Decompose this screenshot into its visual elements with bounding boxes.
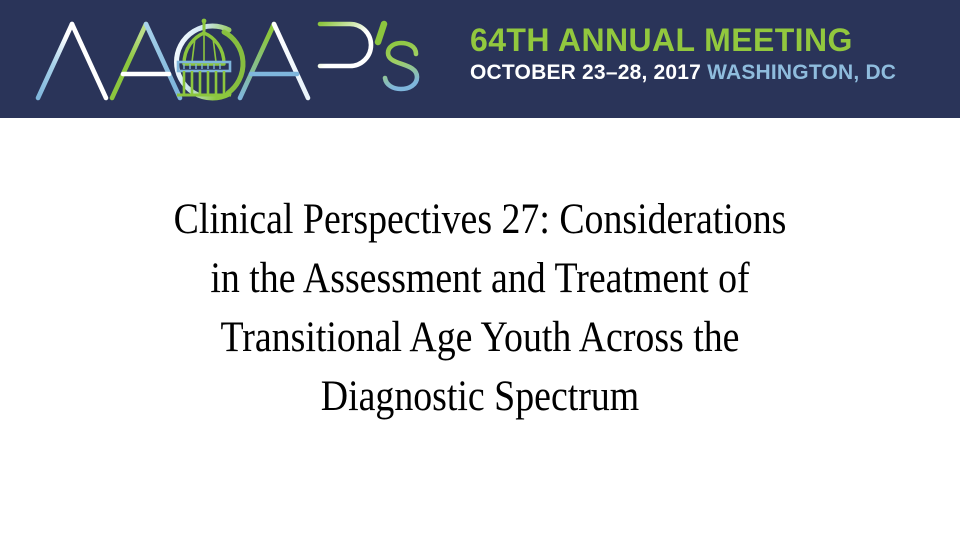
meeting-info: 64TH ANNUAL MEETING OCTOBER 23–28, 2017 … [470,22,930,86]
logo-letter-a-3 [240,24,308,98]
meeting-title: 64TH ANNUAL MEETING [470,22,930,58]
title-line-4: Diagnostic Spectrum [58,367,903,426]
presentation-slide: 64TH ANNUAL MEETING OCTOBER 23–28, 2017 … [0,0,960,540]
logo-apostrophe [378,24,384,42]
logo-letter-s [385,43,417,89]
aacap-conference-banner: 64TH ANNUAL MEETING OCTOBER 23–28, 2017 … [0,0,960,118]
logo-letter-a-2 [112,24,180,98]
logo-letter-a-1 [38,24,106,98]
slide-title: Clinical Perspectives 27: Considerations… [0,190,960,426]
logo-letter-p [320,24,371,98]
title-line-2: in the Assessment and Treatment of [58,249,903,308]
title-line-3: Transitional Age Youth Across the [58,308,903,367]
meeting-city: WASHINGTON, DC [707,61,896,84]
capitol-dome-icon [177,19,244,98]
meeting-dates-location: OCTOBER 23–28, 2017 WASHINGTON, DC [470,60,930,86]
aacap-logo [28,10,438,110]
meeting-dates: OCTOBER 23–28, 2017 [470,61,701,84]
title-line-1: Clinical Perspectives 27: Considerations [58,190,903,249]
